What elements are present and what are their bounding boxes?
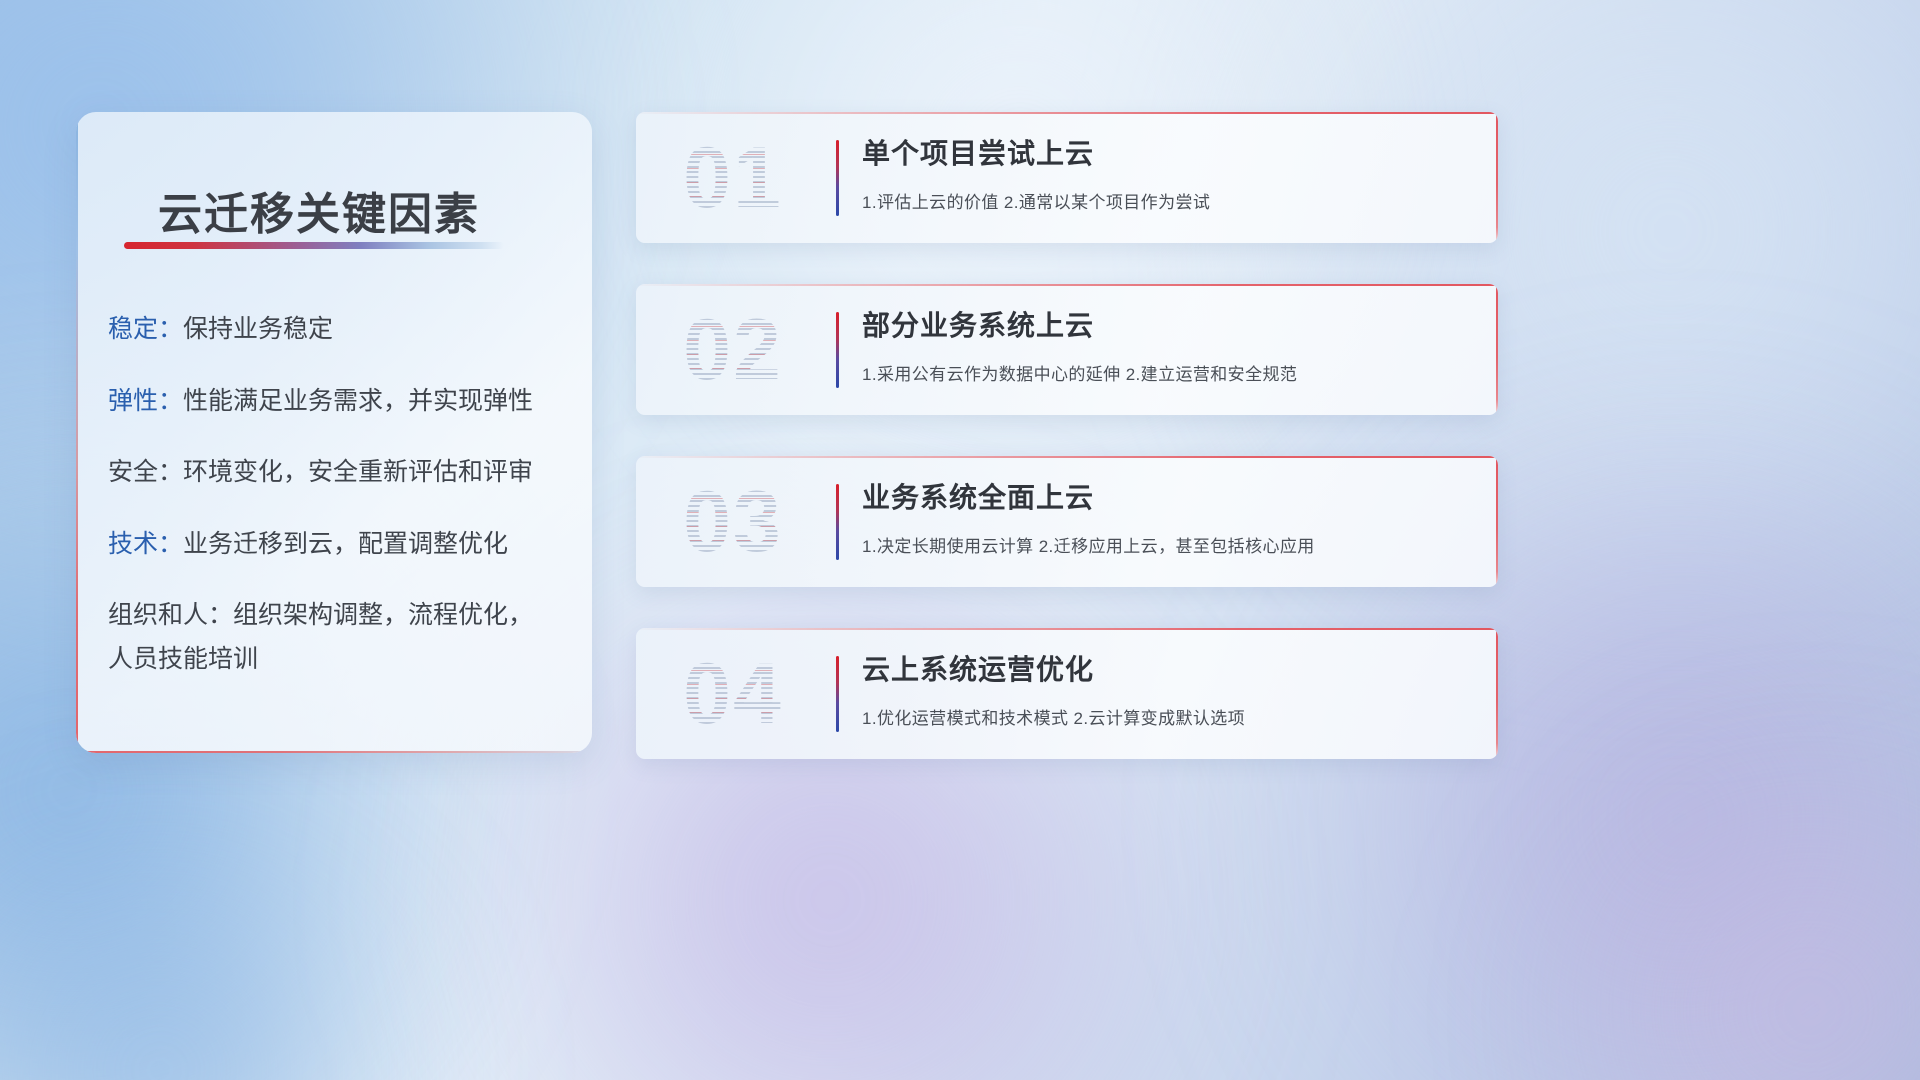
list-item: 技术：业务迁移到云，配置调整优化 — [108, 527, 570, 563]
stage-title: 业务系统全面上云 — [862, 476, 1468, 516]
stage-card[interactable]: 01 01 单个项目尝试上云 1.评估上云的价值 2.通常以某个项目作为尝试 — [636, 112, 1498, 243]
stage-title: 单个项目尝试上云 — [862, 132, 1468, 172]
stage-number-tint: 02 — [658, 298, 808, 402]
list-item-text: 人员技能培训 — [108, 645, 258, 673]
title-underline-accent — [124, 242, 504, 249]
list-item-text: 保持业务稳定 — [183, 315, 333, 343]
stage-number-tint: 04 — [658, 642, 808, 746]
stage-number-tint: 01 — [658, 126, 808, 230]
stage-description: 1.决定长期使用云计算 2.迁移应用上云，甚至包括核心应用 — [862, 532, 1468, 557]
stage-accent-bar — [836, 312, 839, 388]
stage-card-body: 单个项目尝试上云 1.评估上云的价值 2.通常以某个项目作为尝试 — [862, 132, 1468, 213]
list-item-key: 稳定： — [108, 315, 183, 343]
stage-title: 云上系统运营优化 — [862, 648, 1468, 688]
stage-number-tint: 03 — [658, 470, 808, 574]
key-factors-panel: 云迁移关键因素 稳定：保持业务稳定 弹性：性能满足业务需求，并实现弹性 安全：环… — [76, 112, 592, 753]
page-title: 云迁移关键因素 — [158, 178, 480, 242]
stage-accent-bar — [836, 656, 839, 732]
stage-card-list: 01 01 单个项目尝试上云 1.评估上云的价值 2.通常以某个项目作为尝试 0… — [636, 112, 1498, 800]
list-item-continuation: 人员技能培训 — [108, 642, 570, 678]
stage-description: 1.评估上云的价值 2.通常以某个项目作为尝试 — [862, 188, 1468, 213]
stage-card-body: 业务系统全面上云 1.决定长期使用云计算 2.迁移应用上云，甚至包括核心应用 — [862, 476, 1468, 557]
list-item-key: 弹性： — [108, 387, 183, 415]
list-item: 组织和人：组织架构调整，流程优化， — [108, 598, 570, 634]
stage-card[interactable]: 04 04 云上系统运营优化 1.优化运营模式和技术模式 2.云计算变成默认选项 — [636, 628, 1498, 759]
list-item-text: 业务迁移到云，配置调整优化 — [183, 530, 508, 558]
list-item: 弹性：性能满足业务需求，并实现弹性 — [108, 384, 570, 420]
stage-description: 1.优化运营模式和技术模式 2.云计算变成默认选项 — [862, 704, 1468, 729]
stage-card[interactable]: 02 02 部分业务系统上云 1.采用公有云作为数据中心的延伸 2.建立运营和安… — [636, 284, 1498, 415]
stage-card-body: 部分业务系统上云 1.采用公有云作为数据中心的延伸 2.建立运营和安全规范 — [862, 304, 1468, 385]
list-item-text: 组织架构调整，流程优化， — [233, 601, 533, 629]
stage-card[interactable]: 03 03 业务系统全面上云 1.决定长期使用云计算 2.迁移应用上云，甚至包括… — [636, 456, 1498, 587]
list-item-key: 安全： — [108, 458, 183, 486]
stage-description: 1.采用公有云作为数据中心的延伸 2.建立运营和安全规范 — [862, 360, 1468, 385]
list-item-key: 技术： — [108, 530, 183, 558]
stage-card-body: 云上系统运营优化 1.优化运营模式和技术模式 2.云计算变成默认选项 — [862, 648, 1468, 729]
stage-accent-bar — [836, 484, 839, 560]
list-item-key: 组织和人： — [108, 601, 233, 629]
list-item: 安全：环境变化，安全重新评估和评审 — [108, 455, 570, 491]
stage-title: 部分业务系统上云 — [862, 304, 1468, 344]
key-factors-list: 稳定：保持业务稳定 弹性：性能满足业务需求，并实现弹性 安全：环境变化，安全重新… — [108, 312, 570, 685]
list-item: 稳定：保持业务稳定 — [108, 312, 570, 348]
stage-accent-bar — [836, 140, 839, 216]
list-item-text: 环境变化，安全重新评估和评审 — [183, 458, 533, 486]
list-item-text: 性能满足业务需求，并实现弹性 — [183, 387, 533, 415]
